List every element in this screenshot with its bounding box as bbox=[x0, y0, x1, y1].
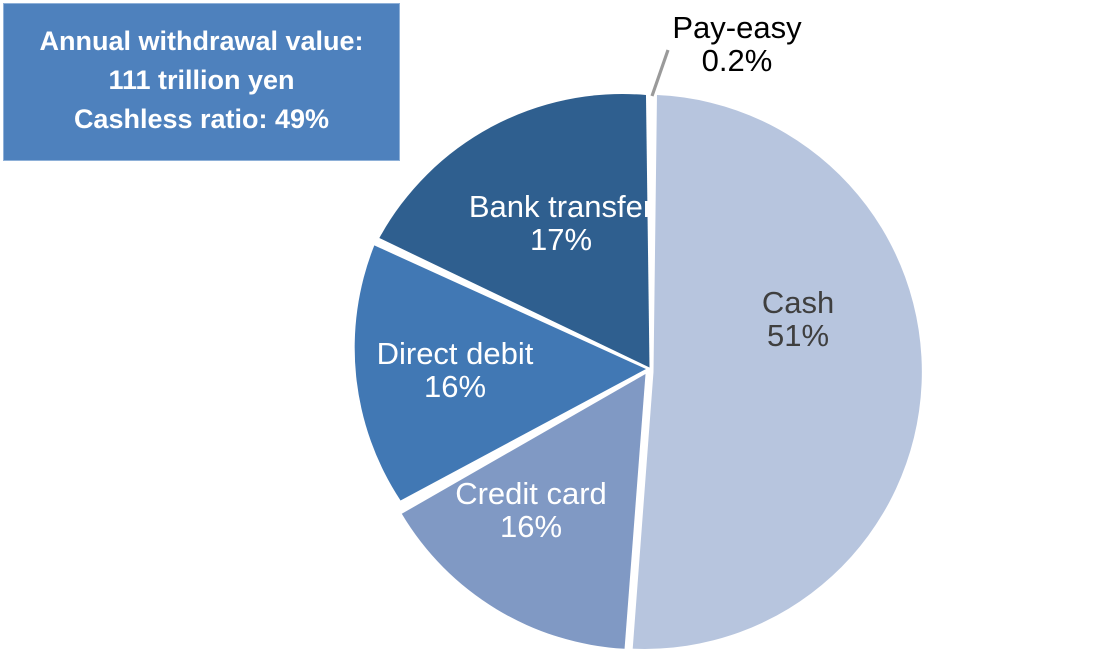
pie-label-pay-easy-value: 0.2% bbox=[612, 45, 862, 78]
pie-slice-cash[interactable] bbox=[633, 95, 922, 649]
pie-graphic bbox=[0, 0, 1120, 668]
pie-slice-pay-easy[interactable] bbox=[650, 95, 652, 372]
pie-label-pay-easy: Pay-easy 0.2% bbox=[612, 12, 862, 78]
pie-slices bbox=[355, 94, 922, 649]
pie-label-pay-easy-name: Pay-easy bbox=[612, 12, 862, 45]
pie-chart-figure: Annual withdrawal value: 111 trillion ye… bbox=[0, 0, 1120, 668]
